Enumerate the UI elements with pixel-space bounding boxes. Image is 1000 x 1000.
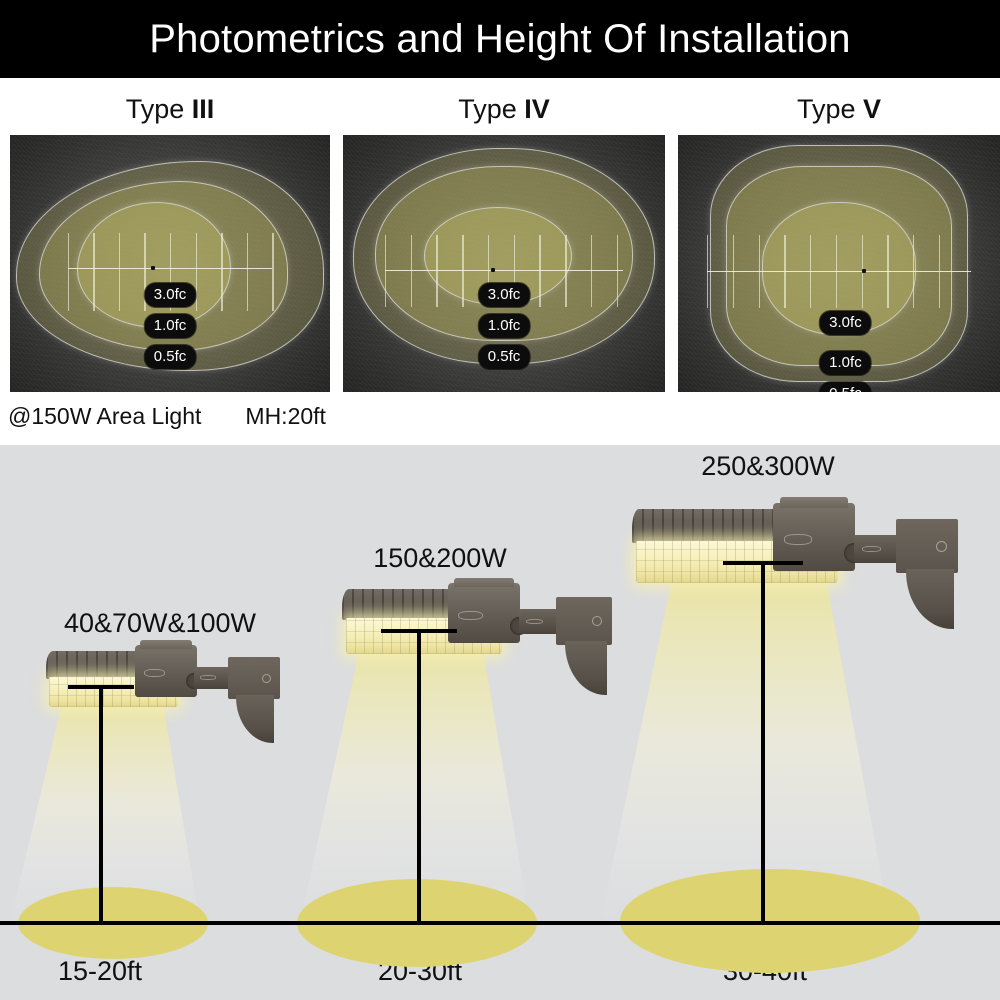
spec-caption: @150W Area Light MH:20ft bbox=[8, 398, 326, 434]
fc-badge-3-0: 3.0fc bbox=[479, 283, 530, 307]
type-label-4: Type IV bbox=[343, 92, 665, 126]
header-band: Photometrics and Height Of Installation bbox=[0, 0, 1000, 78]
type-label-3: Type III bbox=[10, 92, 330, 126]
fc-badge-3-0: 3.0fc bbox=[820, 311, 871, 335]
mounting-hole bbox=[262, 674, 271, 683]
wall-mount-plate bbox=[228, 657, 280, 699]
height-mast-1 bbox=[61, 685, 141, 925]
box-slot bbox=[458, 611, 482, 621]
arm-slot bbox=[200, 675, 215, 680]
box-slot bbox=[784, 534, 812, 545]
wall-mount-plate bbox=[896, 519, 958, 573]
type-numeral: V bbox=[863, 94, 881, 124]
footcandle-legend: 3.0fc 1.0fc 0.5fc bbox=[479, 283, 530, 376]
wattage-label-3: 250&300W bbox=[663, 453, 873, 480]
wattage-label-1: 40&70W&100W bbox=[45, 610, 275, 637]
mast-stem bbox=[99, 685, 103, 925]
mounting-hole bbox=[592, 616, 602, 626]
fc-badge-0-5: 0.5fc bbox=[479, 345, 530, 369]
photometric-panel-type-4: 3.0fc 1.0fc 0.5fc bbox=[343, 135, 665, 392]
spec-wattage: @150W Area Light bbox=[8, 403, 201, 430]
fc-badge-1-0: 1.0fc bbox=[479, 314, 530, 338]
fc-badge-3-0: 3.0fc bbox=[145, 283, 196, 307]
type-numeral: IV bbox=[524, 94, 550, 124]
driver-mount-box bbox=[135, 645, 197, 697]
footcandle-legend: 3.0fc 1.0fc 0.5fc bbox=[145, 283, 196, 376]
box-lid bbox=[780, 497, 849, 508]
mounting-hole bbox=[936, 541, 947, 552]
footcandle-legend: 3.0fc 1.0fc 0.5fc bbox=[820, 311, 871, 392]
wall-mount-plate bbox=[556, 597, 612, 645]
height-label-1: 15-20ft bbox=[25, 958, 175, 985]
type-label-prefix: Type bbox=[458, 94, 524, 124]
spec-mounting-height: MH:20ft bbox=[245, 403, 326, 430]
arm-slot bbox=[862, 546, 881, 552]
height-mast-3 bbox=[713, 561, 813, 925]
installation-height-diagram: 40&70W&100W 15-20ft bbox=[0, 445, 1000, 1000]
mast-stem bbox=[417, 629, 421, 925]
mast-stem bbox=[761, 561, 765, 925]
ground-reference-line bbox=[0, 921, 1000, 925]
fc-badge-0-5: 0.5fc bbox=[145, 345, 196, 369]
box-lid bbox=[140, 640, 192, 648]
fc-badge-1-0: 1.0fc bbox=[145, 314, 196, 338]
type-numeral: III bbox=[192, 94, 215, 124]
photometric-panel-type-3: 3.0fc 1.0fc 0.5fc bbox=[10, 135, 330, 392]
bracket-gusset bbox=[906, 569, 954, 629]
arm-slot bbox=[526, 619, 543, 625]
type-label-prefix: Type bbox=[126, 94, 192, 124]
type-label-5: Type V bbox=[678, 92, 1000, 126]
page-title: Photometrics and Height Of Installation bbox=[149, 19, 851, 59]
height-mast-2 bbox=[374, 629, 464, 925]
box-lid bbox=[454, 578, 514, 588]
fc-badge-1-0: 1.0fc bbox=[820, 351, 871, 375]
bracket-gusset bbox=[236, 695, 274, 743]
box-slot bbox=[144, 669, 165, 677]
type-label-prefix: Type bbox=[797, 94, 863, 124]
fc-badge-0-5: 0.5fc bbox=[820, 382, 871, 392]
wattage-label-2: 150&200W bbox=[340, 545, 540, 572]
bracket-gusset bbox=[565, 641, 607, 695]
photometrics-infographic: Photometrics and Height Of Installation … bbox=[0, 0, 1000, 1000]
photometric-panel-type-5: 3.0fc 1.0fc 0.5fc bbox=[678, 135, 1000, 392]
